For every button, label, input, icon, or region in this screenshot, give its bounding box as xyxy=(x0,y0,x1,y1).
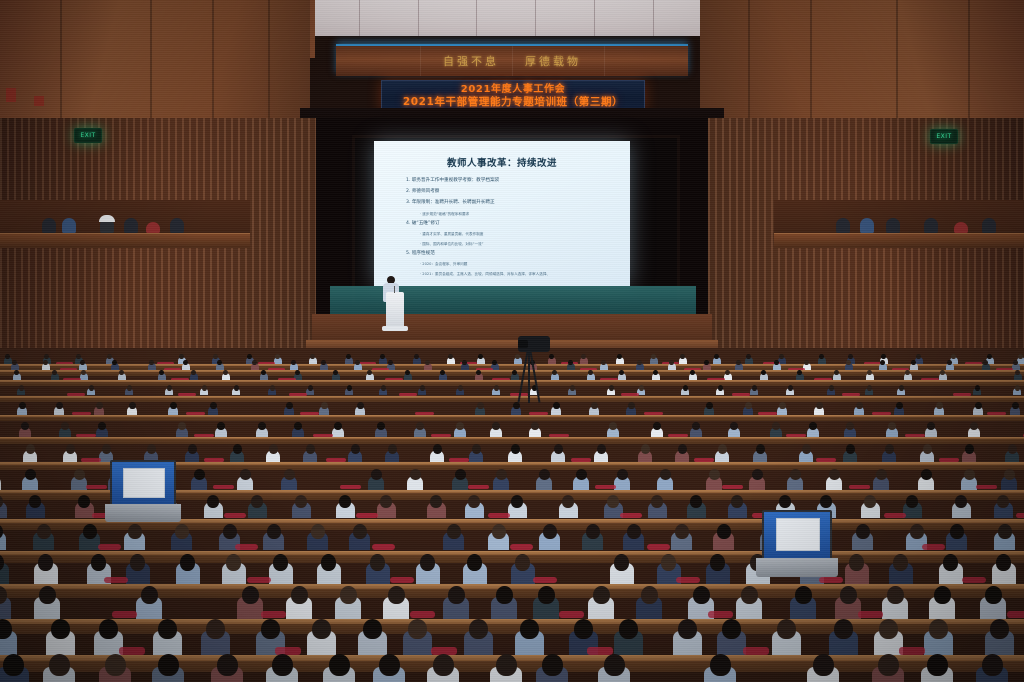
audience-member-head xyxy=(242,586,259,604)
audience-member-head xyxy=(147,444,156,454)
seat-cushion xyxy=(224,513,246,518)
slide-bullet: · 重真才实学、重质量贡献、代表作制度 xyxy=(420,232,620,237)
audience-member-head xyxy=(906,495,918,508)
seat-cushion xyxy=(112,611,137,618)
audience-member-head xyxy=(294,422,302,430)
seat-cushion xyxy=(647,544,670,550)
audience-member-head xyxy=(690,495,702,508)
audience-member-head xyxy=(351,444,360,454)
audience-member-head xyxy=(321,402,328,409)
audience-member-head xyxy=(591,402,598,409)
audience-member-head xyxy=(321,554,336,571)
slide-bullet: · 2020：会议程序、外审问题 xyxy=(420,262,620,267)
audience-member-head xyxy=(896,402,903,409)
audience-member-head xyxy=(829,385,834,391)
audience-member-head xyxy=(597,444,606,454)
audience-member-head xyxy=(834,370,839,375)
seat-cushion xyxy=(976,485,997,489)
audience-member-head xyxy=(433,654,454,676)
audience-member-head xyxy=(496,469,507,480)
audience-member-head xyxy=(1012,402,1019,409)
audience-member-head xyxy=(683,385,688,391)
slide-bullet: 2. 师德师风考察 xyxy=(406,189,620,195)
audience-member-head xyxy=(975,385,980,391)
audience-member-head xyxy=(725,370,730,375)
audience-member-head xyxy=(102,444,111,454)
audience-member-head xyxy=(380,354,385,359)
audience-member-head xyxy=(669,360,674,365)
audience-member-head xyxy=(267,524,281,539)
audience-member-head xyxy=(714,354,719,359)
audience-member-head xyxy=(247,354,252,359)
seat-cushion xyxy=(261,611,286,618)
audience-member-head xyxy=(81,370,86,375)
audience-member-head xyxy=(380,495,392,508)
audience-member-head xyxy=(637,360,642,365)
audience-member-head xyxy=(496,586,513,604)
audience-member-head xyxy=(538,586,555,604)
audience-member-head xyxy=(964,469,975,480)
seat-cushion xyxy=(340,485,361,489)
audience-member-head xyxy=(141,586,158,604)
audience-member-head xyxy=(965,444,974,454)
audience-member-head xyxy=(678,444,687,454)
audience-member-head xyxy=(269,444,278,454)
audience-member-head xyxy=(284,469,295,480)
audience-member-head xyxy=(804,360,809,365)
audience-member-head xyxy=(468,495,480,508)
audience-member-head xyxy=(722,619,741,639)
audience-member-head xyxy=(985,586,1002,604)
audience-member-head xyxy=(779,354,784,359)
audience-member-head xyxy=(997,495,1009,508)
audience-member-head xyxy=(83,524,97,539)
slide-bullet: · 逐步规范“破格”的程序和要求 xyxy=(420,212,620,217)
audience-member-head xyxy=(333,370,338,375)
audience-member-head xyxy=(159,370,164,375)
exit-sign-label: EXIT xyxy=(80,132,95,139)
audience-member-head xyxy=(951,354,956,359)
seat-cushion xyxy=(595,485,616,489)
audience-member-head xyxy=(25,469,36,480)
audience-member-head xyxy=(1015,370,1020,375)
audience-member-head xyxy=(628,402,635,409)
audience-member-head xyxy=(74,469,85,480)
exit-sign-left: EXIT xyxy=(74,128,102,143)
audience-member-head xyxy=(604,654,625,676)
audience-member-head xyxy=(14,370,19,375)
audience-member-head xyxy=(158,619,177,639)
audience-member-head xyxy=(311,524,325,539)
audience-member-head xyxy=(542,654,563,676)
audience-member-head xyxy=(286,402,293,409)
seat-cushion xyxy=(510,544,533,550)
audience-member-head xyxy=(321,360,326,365)
audience-member-head xyxy=(619,370,624,375)
audience-member-head xyxy=(39,586,56,604)
audience-member-head xyxy=(867,385,872,391)
audience-member-head xyxy=(834,619,853,639)
audience-member-head xyxy=(916,354,921,359)
audience-member-head xyxy=(617,354,622,359)
audience-member-head xyxy=(820,495,832,508)
audience-member-head xyxy=(202,385,207,391)
audience-member-head xyxy=(797,370,802,375)
seat-cushion xyxy=(884,513,906,518)
seat-cushion xyxy=(468,485,489,489)
audience-member-head xyxy=(295,370,300,375)
audience-member-head xyxy=(127,385,132,391)
led-banner-line-1: 2021年度人事工作会 xyxy=(461,83,565,96)
audience-member-head xyxy=(1018,354,1023,359)
audience-member-head xyxy=(52,370,57,375)
audience-member-head xyxy=(641,586,658,604)
audience-member-head xyxy=(710,554,725,571)
slide-bullet: · 2021：委员会组成、主席人选、比较、同领域选择、对标人选择、评审人选择、 xyxy=(420,272,620,277)
audience-member-head xyxy=(846,360,851,365)
audience-member-head xyxy=(291,586,308,604)
audience-member-head xyxy=(180,554,195,571)
audience-member-head xyxy=(619,619,638,639)
audience-member-head xyxy=(478,354,483,359)
audience-member-head xyxy=(234,385,239,391)
audience-member-head xyxy=(813,654,834,676)
wall-upper-left xyxy=(0,0,310,122)
audience-member-head xyxy=(96,402,103,409)
seating-row xyxy=(0,422,1024,444)
audience-member-head xyxy=(217,422,225,430)
laptop-base xyxy=(756,558,838,577)
balcony-left xyxy=(0,200,250,248)
audience-member-head xyxy=(570,385,575,391)
audience-member-head xyxy=(568,360,573,365)
audience-member-head xyxy=(574,619,593,639)
laptop-screen xyxy=(762,510,832,560)
audience-member-head xyxy=(26,444,35,454)
audience-member-head xyxy=(179,354,184,359)
audience-member-head xyxy=(756,444,765,454)
audience-member-head xyxy=(848,354,853,359)
audience-member-head xyxy=(864,495,876,508)
seat-cushion xyxy=(104,577,128,583)
seat-cushion xyxy=(819,577,843,583)
audience-member-head xyxy=(617,469,628,480)
audience-member-head xyxy=(752,385,757,391)
audience-member-head xyxy=(675,524,689,539)
audience-member-head xyxy=(586,524,600,539)
audience-member-head xyxy=(511,495,523,508)
audience-member-head xyxy=(477,402,484,409)
audience-member-head xyxy=(308,385,313,391)
audience-member-head xyxy=(112,360,117,365)
audience-member-head xyxy=(178,422,186,430)
audience-member-head xyxy=(593,586,610,604)
audience-member-head xyxy=(272,654,293,676)
audience-member-head xyxy=(19,385,24,391)
audience-member-head xyxy=(581,354,586,359)
presentation-slide: 教师人事改革：持续改进 1. 职务晋升工作中重视教学考察：教学档案袋2. 师德师… xyxy=(374,141,630,286)
audience-member-head xyxy=(1004,469,1015,480)
audience-member-head xyxy=(425,360,430,365)
audience-member-head xyxy=(158,654,179,676)
audience-member-head xyxy=(291,360,296,365)
audience-member-head xyxy=(653,370,658,375)
audience-member-head xyxy=(240,469,251,480)
audience-member-head xyxy=(223,370,228,375)
audience-member-head xyxy=(709,469,720,480)
audience-member-head xyxy=(367,370,372,375)
audience-member-head xyxy=(340,586,357,604)
seat-cushion xyxy=(708,611,733,618)
audience-member-head xyxy=(651,354,656,359)
audience-member-head xyxy=(940,370,945,375)
audience-member-head xyxy=(790,469,801,480)
audience-member-head xyxy=(347,385,352,391)
audience-member-head xyxy=(456,422,464,430)
audience-member-head xyxy=(856,524,870,539)
audience-member-head xyxy=(779,402,786,409)
audience-member-head xyxy=(607,495,619,508)
seat-cushion xyxy=(620,513,642,518)
audience-member-head xyxy=(867,370,872,375)
audience-member-head xyxy=(970,422,978,430)
video-camera-rig xyxy=(512,336,556,406)
audience-member-head xyxy=(408,619,427,639)
audience-member-head xyxy=(213,354,218,359)
audience-member-head xyxy=(91,554,106,571)
audience-member-head xyxy=(49,654,70,676)
audience-member-head xyxy=(819,354,824,359)
slide-title: 教师人事改革：持续改进 xyxy=(384,155,620,169)
audience-member-head xyxy=(273,554,288,571)
audience-member-head xyxy=(511,444,520,454)
audience-member-head xyxy=(693,586,710,604)
audience-member-head xyxy=(226,554,241,571)
audience-member-head xyxy=(934,586,951,604)
audience-member-head xyxy=(846,422,854,430)
projection-screen: 教师人事改革：持续改进 1. 职务晋升工作中重视教学考察：教学档案袋2. 师德师… xyxy=(374,141,630,286)
audience-member-head xyxy=(420,554,435,571)
audience-member-head xyxy=(353,524,367,539)
seat-cushion xyxy=(356,513,378,518)
audience-member-head xyxy=(217,654,238,676)
exit-sign-right: EXIT xyxy=(930,129,958,144)
audience-member-head xyxy=(893,554,908,571)
audience-member-head xyxy=(357,402,364,409)
seat-cushion xyxy=(676,577,700,583)
audience-member-head xyxy=(492,524,506,539)
seat-cushion xyxy=(922,544,945,550)
audience-member-head xyxy=(206,619,225,639)
audience-member-head xyxy=(987,354,992,359)
slide-bullet: 5. 程序性规范 xyxy=(406,251,620,257)
audience-member-head xyxy=(846,444,855,454)
laptop-base xyxy=(105,504,182,522)
audience-member-head xyxy=(746,354,751,359)
audience-member-head xyxy=(334,422,342,430)
audience-member-head xyxy=(1015,385,1020,391)
audience-member-head xyxy=(752,469,763,480)
audience-member-head xyxy=(710,654,731,676)
audience-member-head xyxy=(543,524,557,539)
audience-member xyxy=(0,476,1,490)
audience-member-head xyxy=(661,554,676,571)
audience-member-head xyxy=(802,444,811,454)
audience-member-head xyxy=(704,360,709,365)
audience-member-head xyxy=(310,354,315,359)
audience-member-head xyxy=(416,422,424,430)
audience-member-head xyxy=(261,619,280,639)
audience-member-head xyxy=(730,422,738,430)
audience-member-head xyxy=(651,495,663,508)
audience-member-head xyxy=(472,444,481,454)
audience-member-head xyxy=(329,654,350,676)
audience-member-head xyxy=(905,370,910,375)
seat-cushion xyxy=(390,577,414,583)
audience-member-head xyxy=(339,495,351,508)
audience-member-head xyxy=(295,495,307,508)
audience-member-head xyxy=(1013,360,1018,365)
audience-member-head xyxy=(128,524,142,539)
audience-member-head xyxy=(876,469,887,480)
auditorium-photo: 自强不息 厚德载物 2021年度人事工作会 2021年干部管理能力专题培训班（第… xyxy=(0,0,1024,682)
seat-cushion xyxy=(559,611,584,618)
audience-member-head xyxy=(829,469,840,480)
audience-member-head xyxy=(105,654,126,676)
audience-member-head xyxy=(910,524,924,539)
audience-member-head xyxy=(774,360,779,365)
audience-member-head xyxy=(38,554,53,571)
seat-cushion xyxy=(235,544,258,550)
audience-member-head xyxy=(217,360,222,365)
audience-member-head xyxy=(191,370,196,375)
audience-member-head xyxy=(420,385,425,391)
audience-member-head xyxy=(44,354,49,359)
audience-member-head xyxy=(856,402,863,409)
slide-bullet: · 国际、国内和单位内比较、对标“一流” xyxy=(420,242,620,247)
seat-cushion xyxy=(247,577,271,583)
audience-member-head xyxy=(414,354,419,359)
audience-member-head xyxy=(458,385,463,391)
audience-member-head xyxy=(531,422,539,430)
audience-member-head xyxy=(37,524,51,539)
audience-member-head xyxy=(879,619,898,639)
audience-member-head xyxy=(43,360,48,365)
audience-member-head xyxy=(29,495,41,508)
audience-member-head xyxy=(370,554,385,571)
audience-member-head xyxy=(878,654,899,676)
audience-member-head xyxy=(680,354,685,359)
audience-member-head xyxy=(927,654,948,676)
balcony-right xyxy=(774,200,1024,248)
audience-member-head xyxy=(741,586,758,604)
audience-member-head xyxy=(167,385,172,391)
audience-member-head xyxy=(3,654,24,676)
audience-member-head xyxy=(706,402,713,409)
audience-member-head xyxy=(955,495,967,508)
audience-member-head xyxy=(12,360,17,365)
audience-member-head xyxy=(270,385,275,391)
audience-member-head xyxy=(80,360,85,365)
audience-member-head xyxy=(840,586,857,604)
audience-member-head xyxy=(929,619,948,639)
audience-member-head xyxy=(223,524,237,539)
audience-member-head xyxy=(476,370,481,375)
audience-member-head xyxy=(998,524,1012,539)
audience-member-head xyxy=(539,469,550,480)
audience-member-head xyxy=(772,422,780,430)
audience-member-head xyxy=(78,495,90,508)
audience-member-head xyxy=(731,495,743,508)
audience-member-head xyxy=(975,402,982,409)
audience-member-head xyxy=(119,370,124,375)
audience-member-head xyxy=(129,402,136,409)
audience-member-head xyxy=(576,469,587,480)
audience-member-head xyxy=(261,370,266,375)
wall-upper-right xyxy=(700,0,1024,122)
audience-member-head xyxy=(388,586,405,604)
seating-row xyxy=(0,654,1024,682)
audience-member-head xyxy=(188,444,197,454)
audience-member-head xyxy=(149,360,154,365)
audience-member-head xyxy=(275,354,280,359)
audience-member-head xyxy=(494,385,499,391)
audience-member-head xyxy=(252,360,257,365)
audience-member-head xyxy=(736,360,741,365)
audience-member-head xyxy=(996,554,1011,571)
audience-member-head xyxy=(779,495,791,508)
audience-member-head xyxy=(641,444,650,454)
audience-member-head xyxy=(194,469,205,480)
audience-member-head xyxy=(66,444,75,454)
audience-member-head xyxy=(388,444,397,454)
audience-member-head xyxy=(455,469,466,480)
seat-cushion xyxy=(372,544,395,550)
audience-member-head xyxy=(849,554,864,571)
audience-member-head xyxy=(379,654,400,676)
audience-member-head xyxy=(718,385,723,391)
audience-member-head xyxy=(609,422,617,430)
audience-member-head xyxy=(19,402,26,409)
audience-member-head xyxy=(809,422,817,430)
bench-desk xyxy=(0,437,1024,444)
audience-member-head xyxy=(377,422,385,430)
audience-member-head xyxy=(927,422,935,430)
seat-cushion xyxy=(488,513,510,518)
audience-member-head xyxy=(923,444,932,454)
audience-member-head xyxy=(718,444,727,454)
slide-bullet: 3. 年限限制：准聘升长聘、长聘副升长聘正 xyxy=(406,200,620,206)
seat-cushion xyxy=(213,485,234,489)
audience-member-head xyxy=(881,354,886,359)
seat-cushion xyxy=(98,544,121,550)
audience-member-head xyxy=(1008,444,1017,454)
audience-member-head xyxy=(492,360,497,365)
audience-member-head xyxy=(880,360,885,365)
audience-member-head xyxy=(89,385,94,391)
audience-member-head xyxy=(627,524,641,539)
seat-cushion xyxy=(410,611,435,618)
audience-member-head xyxy=(990,619,1009,639)
audience-member-head xyxy=(983,360,988,365)
seat-cushion xyxy=(1016,513,1024,518)
audience-member-head xyxy=(388,360,393,365)
audience-member-head xyxy=(788,385,793,391)
audience-member-head xyxy=(410,469,421,480)
audience-member-head xyxy=(609,385,614,391)
audience-member-head xyxy=(107,354,112,359)
bench-desk xyxy=(0,415,1024,421)
